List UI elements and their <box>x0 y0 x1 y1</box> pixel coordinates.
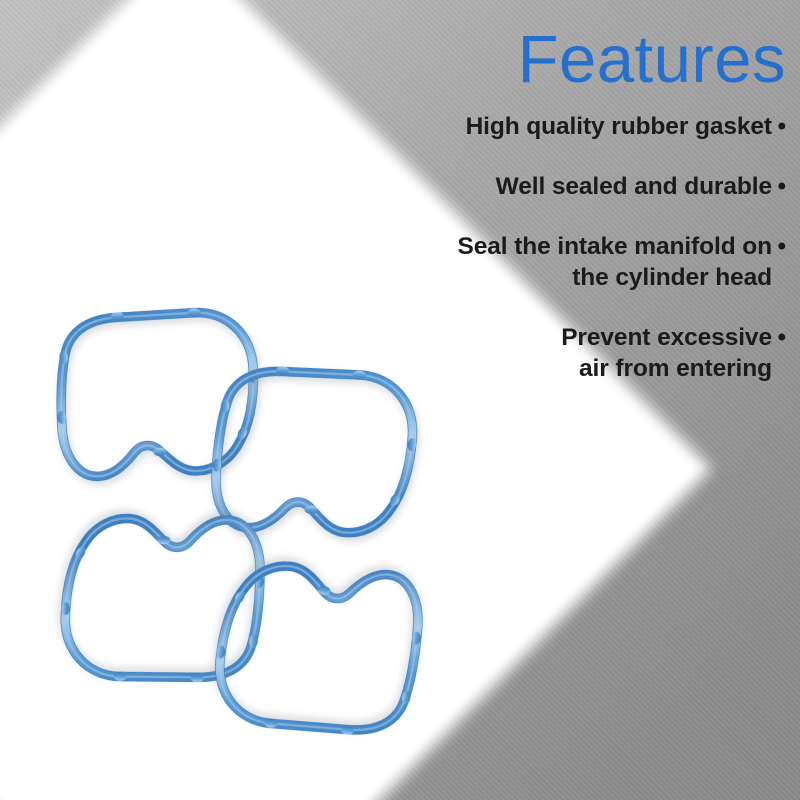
feature-text-line: Seal the intake manifold on <box>366 232 772 263</box>
bullet-icon: • <box>778 112 786 143</box>
features-panel: Features High quality rubber gasket•Well… <box>366 26 786 384</box>
feature-text-line: High quality rubber gasket <box>366 112 772 143</box>
bullet-icon: • <box>778 323 786 354</box>
page-title: Features <box>366 26 786 94</box>
gasket-bottom-right <box>210 552 427 742</box>
product-feature-image: Features High quality rubber gasket•Well… <box>0 0 800 800</box>
feature-text-line: the cylinder head <box>366 263 772 294</box>
bullet-icon: • <box>778 232 786 263</box>
feature-text-line: Prevent excessive <box>366 323 772 354</box>
feature-item: Prevent excessiveair from entering• <box>366 323 786 385</box>
feature-item: Well sealed and durable• <box>366 172 786 203</box>
feature-text-line: Well sealed and durable <box>366 172 772 203</box>
feature-list: High quality rubber gasket•Well sealed a… <box>366 112 786 384</box>
bullet-icon: • <box>778 172 786 203</box>
feature-item: Seal the intake manifold onthe cylinder … <box>366 232 786 294</box>
feature-item: High quality rubber gasket• <box>366 112 786 143</box>
feature-text-line: air from entering <box>366 354 772 385</box>
